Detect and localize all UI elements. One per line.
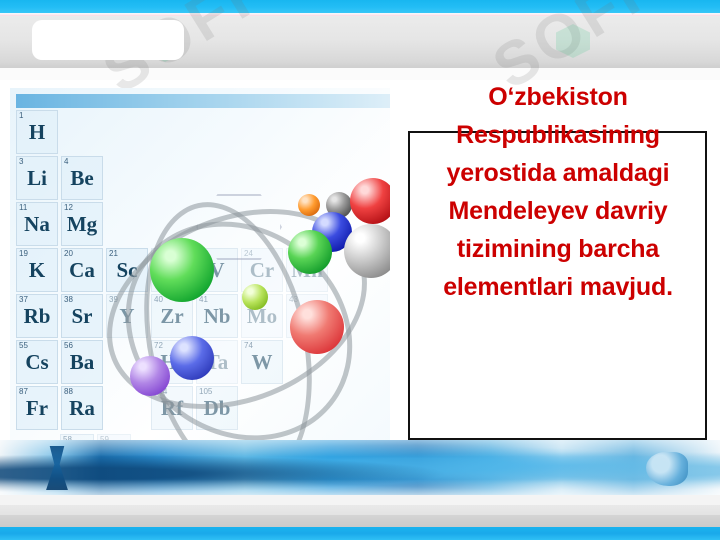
body-text[interactable]: O‘zbekiston Respublikasining yerostida a… (404, 78, 712, 508)
bottom-accent-bar (0, 527, 720, 540)
top-accent-bar (0, 0, 720, 13)
bottom-gray-band-2 (0, 515, 720, 527)
bottom-gray-band-1 (0, 505, 720, 515)
atom-orbital-overlay (10, 88, 390, 494)
sphere-gray (344, 224, 390, 278)
sphere-green-small (288, 230, 332, 274)
periodic-table-picture[interactable]: 1 H 3 Li 4 Be 11 Na (10, 88, 390, 494)
sphere-salmon-red (290, 300, 344, 354)
bottom-white-band (0, 495, 720, 505)
slide-canvas: SOFF SOFF EFF EFF 1 H 3 Li 4 (0, 0, 720, 540)
sphere-orange (298, 194, 320, 216)
sphere-lime (242, 284, 268, 310)
sphere-indigo (170, 336, 214, 380)
sphere-red (350, 178, 390, 224)
title-placeholder[interactable] (32, 20, 184, 60)
sphere-green-large (150, 238, 214, 302)
sphere-violet (130, 356, 170, 396)
